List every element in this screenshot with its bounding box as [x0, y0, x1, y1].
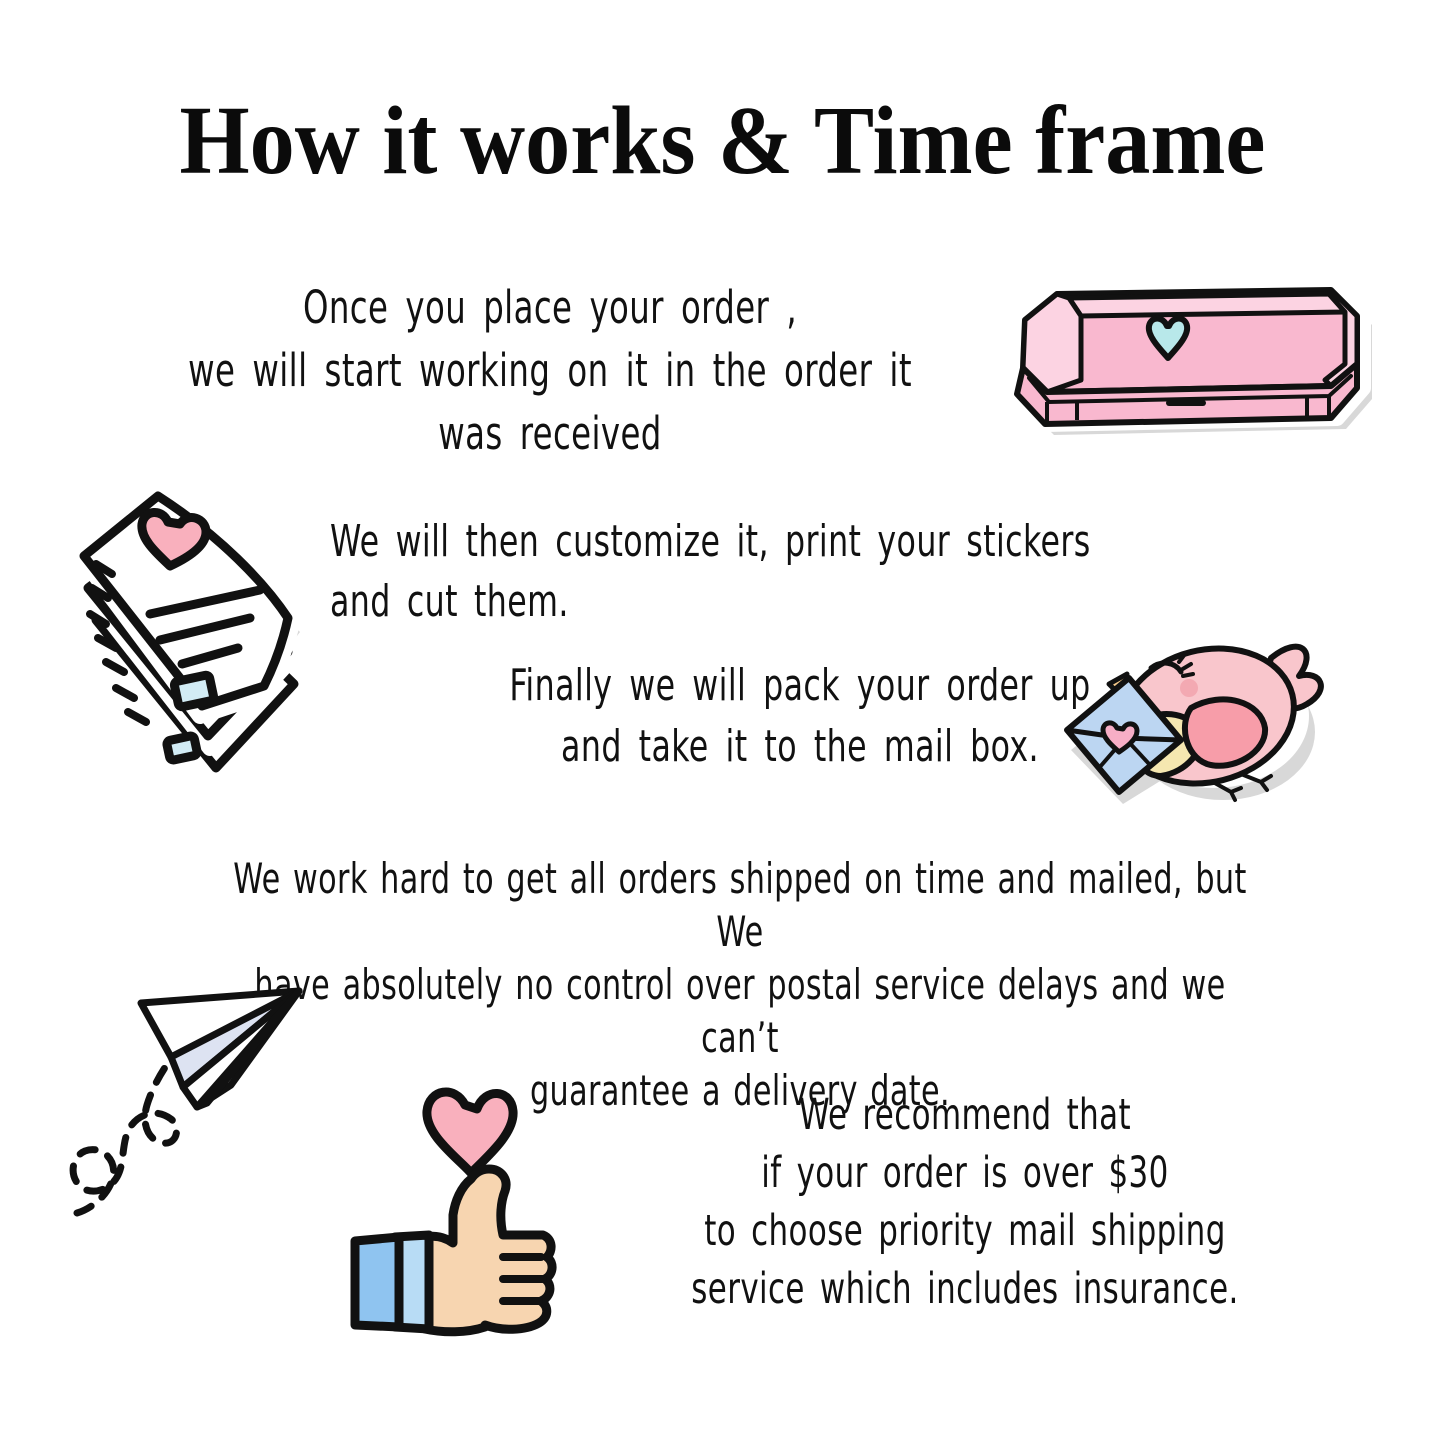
mail-bird-icon [1055, 612, 1365, 832]
page-title: How it works & Time frame [58, 92, 1387, 190]
poster-canvas: How it works & Time frame Once you place… [0, 0, 1445, 1445]
paragraph-priority-recommendation: We recommend that if your order is over … [641, 1086, 1289, 1318]
paragraph-order-received: Once you place your order , we will star… [158, 276, 942, 465]
thumbs-up-icon [325, 1075, 600, 1345]
sticker-sheets-icon [50, 448, 360, 798]
cutting-machine-icon [985, 268, 1375, 453]
paper-airplane-icon [55, 965, 345, 1255]
